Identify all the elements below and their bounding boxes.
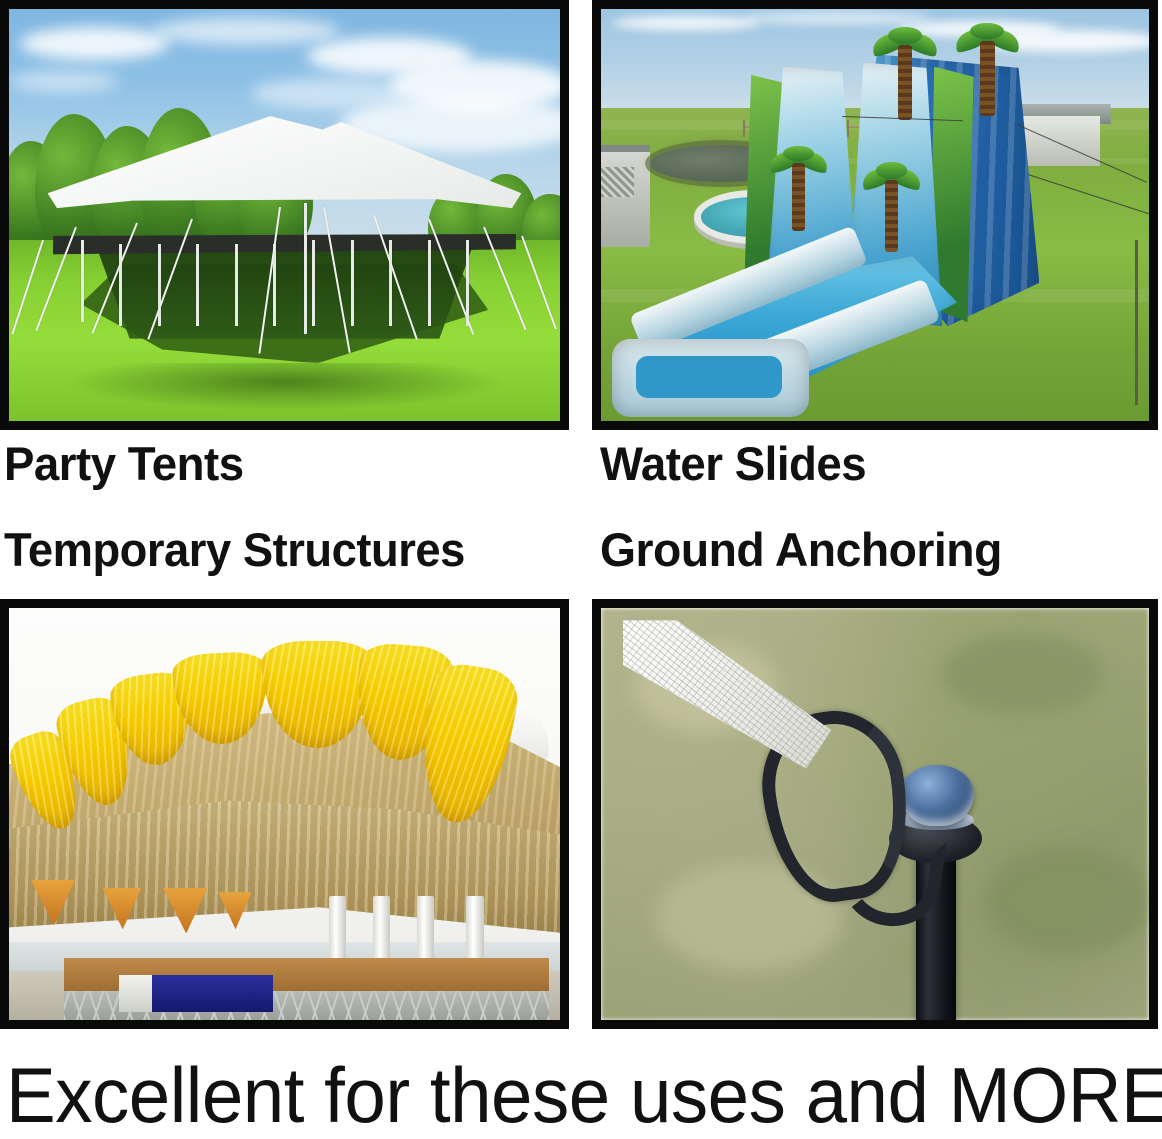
bottom-caption: Excellent for these uses and MORE!	[6, 1056, 1106, 1134]
background-blur-spot	[941, 633, 1105, 715]
cloud	[20, 27, 169, 60]
temporary-structure-photo	[9, 608, 560, 1020]
splash-pool	[612, 339, 809, 417]
cloud	[152, 17, 339, 45]
tent-pole	[235, 244, 238, 326]
cloud	[612, 16, 760, 30]
palm-tree-decoration	[864, 157, 919, 252]
support-pillar	[417, 896, 435, 962]
photo-panel-ground-anchoring	[592, 599, 1158, 1029]
background-blur-spot	[985, 847, 1149, 954]
palm-tree-decoration	[771, 141, 826, 232]
palm-trunk	[980, 41, 994, 116]
tent-pole	[196, 244, 199, 326]
label-temporary-structures: Temporary Structures	[4, 526, 465, 573]
support-pillar	[329, 896, 347, 962]
party-tent-photo	[9, 9, 560, 421]
palm-trunk	[898, 45, 912, 120]
tent-pole	[428, 240, 431, 327]
palm-frond	[888, 27, 922, 44]
tent-pole	[81, 240, 84, 322]
label-party-tents: Party Tents	[4, 440, 244, 487]
photo-panel-temporary-structures	[0, 599, 569, 1029]
water-slide-photo	[601, 9, 1149, 421]
anchor-stake-blue-cap	[900, 765, 974, 827]
palm-trunk	[885, 180, 898, 252]
support-pillar	[466, 896, 484, 962]
palm-frond	[876, 162, 907, 178]
photo-panel-party-tents	[0, 0, 569, 430]
palm-trunk	[792, 163, 805, 232]
palm-frond	[783, 146, 814, 161]
support-pillar	[373, 896, 391, 962]
tent-pole	[351, 240, 354, 327]
tent-pole	[312, 240, 315, 327]
lawn-shading	[64, 363, 505, 410]
photo-panel-water-slides	[592, 0, 1158, 430]
palm-tree-decoration	[957, 17, 1017, 116]
tent-center-pole	[304, 203, 307, 335]
ground-anchor-photo	[601, 608, 1149, 1020]
label-water-slides: Water Slides	[600, 440, 866, 487]
cloud	[9, 70, 119, 93]
tent-pole	[389, 240, 392, 327]
tent-pole	[466, 240, 469, 327]
blue-carpeted-steps	[152, 975, 273, 1012]
palm-tree-decoration	[875, 21, 935, 120]
fence-post	[1135, 240, 1138, 405]
label-ground-anchoring: Ground Anchoring	[600, 526, 1002, 573]
